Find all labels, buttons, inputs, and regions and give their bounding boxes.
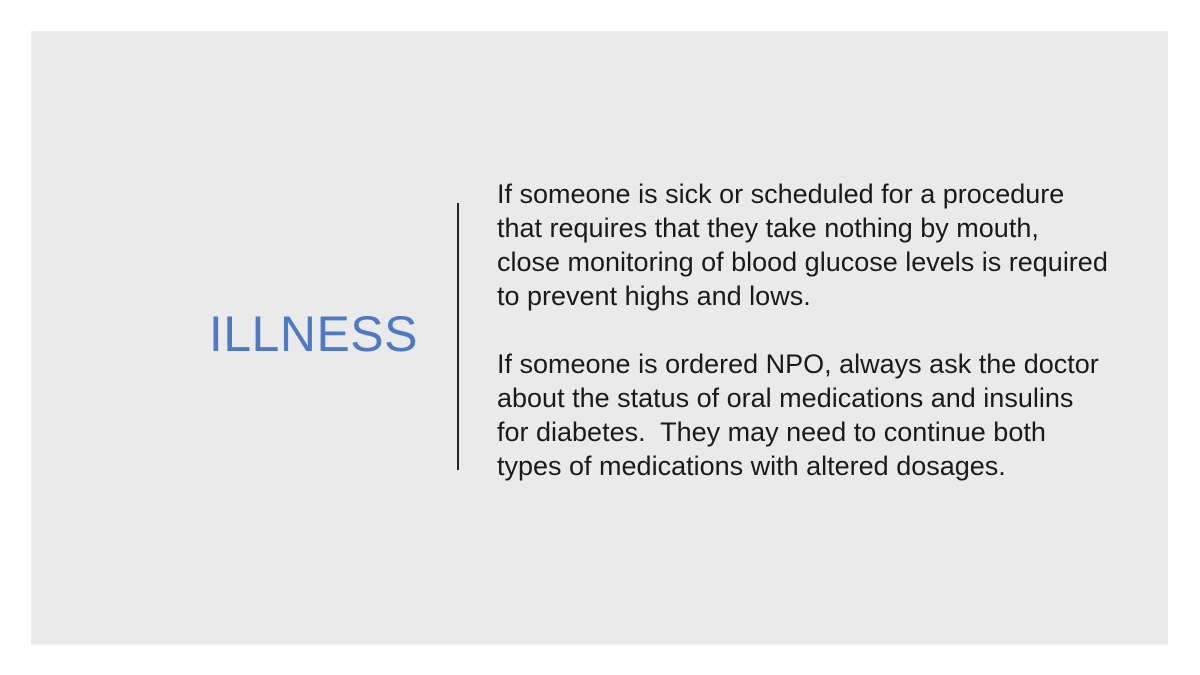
body-text-block: If someone is sick or scheduled for a pr… bbox=[497, 177, 1109, 483]
slide-root: ILLNESS If someone is sick or scheduled … bbox=[0, 0, 1200, 675]
slide-title: ILLNESS bbox=[60, 306, 418, 362]
body-paragraph-2: If someone is ordered NPO, always ask th… bbox=[497, 347, 1109, 483]
body-paragraph-1: If someone is sick or scheduled for a pr… bbox=[497, 177, 1109, 313]
title-body-divider bbox=[457, 203, 459, 470]
